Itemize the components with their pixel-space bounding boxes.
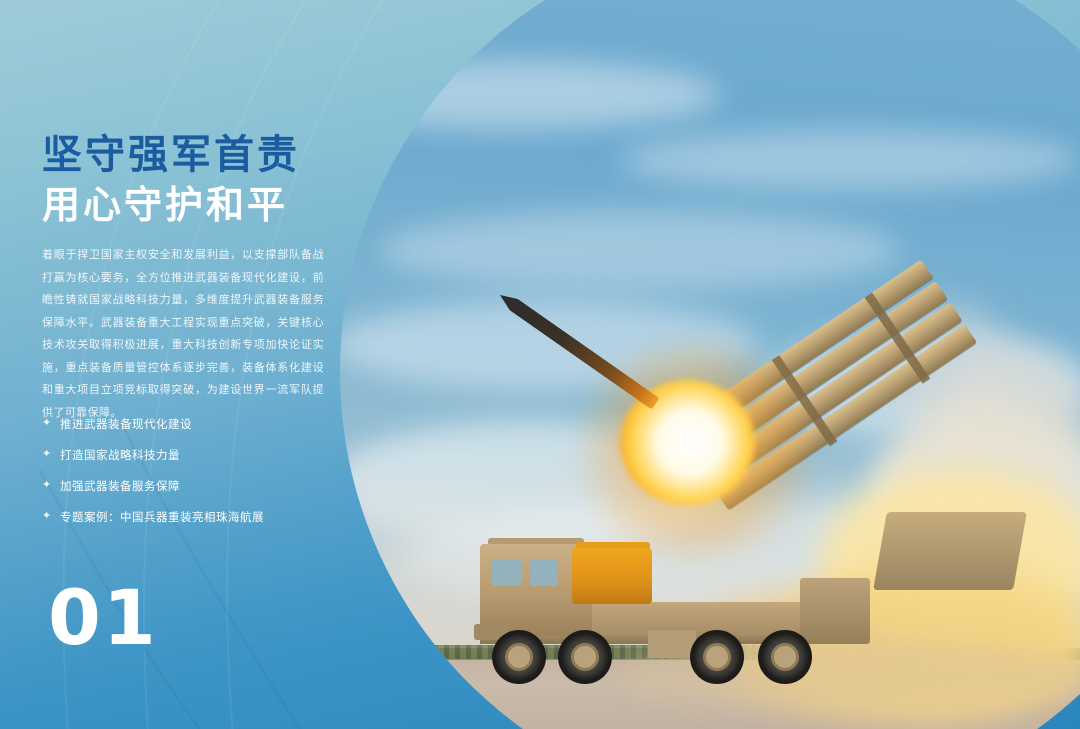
section-number: 01 (48, 580, 158, 656)
wheel (558, 630, 612, 684)
list-item-label: 打造国家战略科技力量 (60, 447, 180, 463)
title-line-1: 坚守强军首责 (42, 130, 342, 180)
title-line-2: 用心守护和平 (42, 182, 342, 231)
launcher-vehicle (480, 538, 900, 668)
list-item[interactable]: ✦ 专题案例：中国兵器重装亮相珠海航展 (42, 501, 342, 532)
cloud (380, 210, 900, 290)
text-panel: 坚守强军首责 用心守护和平 着眼于捍卫国家主权安全和发展利益，以支撑部队备战打赢… (0, 0, 360, 729)
page-title: 坚守强军首责 用心守护和平 (42, 130, 342, 231)
list-item-label: 推进武器装备现代化建设 (60, 416, 192, 432)
bullet-marker-icon: ✦ (42, 480, 60, 491)
wheel (690, 630, 744, 684)
wheel (492, 630, 546, 684)
list-item-label: 专题案例：中国兵器重装亮相珠海航展 (60, 509, 264, 525)
list-item[interactable]: ✦ 加强武器装备服务保障 (42, 470, 342, 501)
bullet-marker-icon: ✦ (42, 418, 60, 429)
bullet-marker-icon: ✦ (42, 511, 60, 522)
slide-page: 坚守强军首责 用心守护和平 着眼于捍卫国家主权安全和发展利益，以支撑部队备战打赢… (0, 0, 1080, 729)
cab-window (530, 560, 558, 586)
bullet-marker-icon: ✦ (42, 449, 60, 460)
list-item[interactable]: ✦ 推进武器装备现代化建设 (42, 408, 342, 439)
wheel (758, 630, 812, 684)
body-paragraph: 着眼于捍卫国家主权安全和发展利益，以支撑部队备战打赢为核心要务，全方位推进武器装… (42, 244, 324, 424)
cloud (300, 60, 720, 130)
list-item[interactable]: ✦ 打造国家战略科技力量 (42, 439, 342, 470)
cloud (620, 130, 1080, 190)
bullet-list: ✦ 推进武器装备现代化建设 ✦ 打造国家战略科技力量 ✦ 加强武器装备服务保障 … (42, 408, 342, 532)
list-item-label: 加强武器装备服务保障 (60, 478, 180, 494)
cab-window (492, 560, 522, 586)
